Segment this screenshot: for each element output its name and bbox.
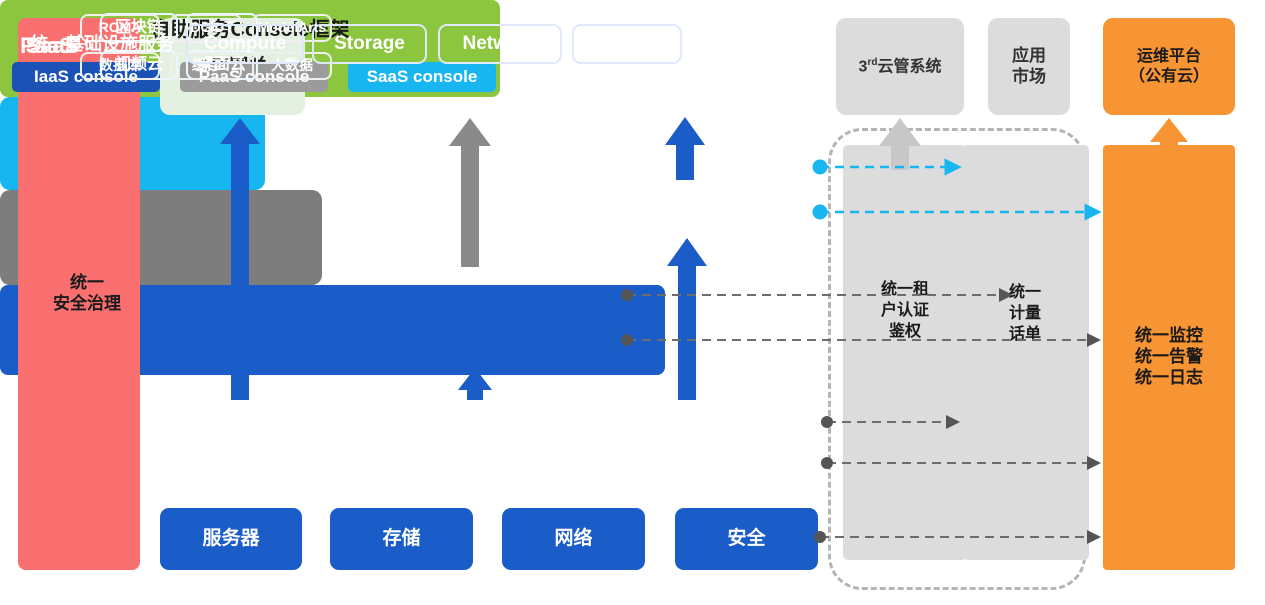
unified-metering-column <box>963 145 1089 560</box>
unified-security-governance-panel: 统一 安全治理 <box>18 18 140 570</box>
resource-box-security[interactable]: 安全 <box>675 508 818 570</box>
resource-box-storage[interactable]: 存储 <box>330 508 473 570</box>
ops-platform-line-1: 运维平台 <box>1129 47 1209 67</box>
app-market-line-2: 市场 <box>1012 67 1046 88</box>
auth-line-2: 户认证 <box>845 301 965 322</box>
unified-metering-label: 统一 计量 话单 <box>965 283 1085 345</box>
arrow-paas-to-console <box>449 118 491 267</box>
ops-platform-header-box: 运维平台 （公有云） <box>1103 18 1235 115</box>
ops-platform-line-2: （公有云） <box>1129 67 1209 87</box>
governance-label: 统一 安全治理 <box>37 273 121 314</box>
iaas-tile-network[interactable]: Network <box>438 24 562 64</box>
ops-platform-body-box: 统一监控 统一告警 统一日志 <box>1103 145 1235 570</box>
saas-console-label: SaaS console <box>367 68 478 87</box>
governance-line-1: 统一 <box>53 273 121 294</box>
third-party-cloud-management-box: 3rd云管系统 <box>836 18 964 115</box>
paas-tile-database[interactable]: 数据库 <box>80 52 160 80</box>
auth-line-3: 鉴权 <box>845 322 965 343</box>
arrow-saas-to-console <box>665 117 705 180</box>
third-party-superscript: rd <box>867 57 877 68</box>
saas-console-pill[interactable]: SaaS console <box>348 62 496 92</box>
third-party-label: 3rd云管系统 <box>859 57 942 77</box>
resource-label-1: 服务器 <box>202 527 259 550</box>
paas-tile-4-label: 数据库 <box>99 58 141 73</box>
resource-label-2: 存储 <box>382 527 420 550</box>
iaas-tile-2-label: Storage <box>334 34 405 55</box>
iaas-tile-compute[interactable]: Compute <box>186 24 304 64</box>
iaas-tile-4-label: CCE <box>607 34 647 55</box>
ops-body-line-2: 统一告警 <box>1135 347 1203 368</box>
resource-box-server[interactable]: 服务器 <box>160 508 302 570</box>
ops-platform-body-label: 统一监控 统一告警 统一日志 <box>1135 326 1203 388</box>
iaas-layer-label: 统一基础设施服务 <box>18 30 186 56</box>
unified-tenant-auth-column <box>843 145 967 560</box>
resource-label-4: 安全 <box>727 527 765 550</box>
app-market-label: 应用 市场 <box>1012 46 1046 87</box>
arrow-iaas-to-saas <box>667 238 707 400</box>
unified-tenant-auth-label: 统一租 户认证 鉴权 <box>845 280 965 342</box>
app-market-box: 应用 市场 <box>988 18 1070 115</box>
iaas-tile-cce[interactable]: CCE <box>572 24 682 64</box>
iaas-tile-1-label: Compute <box>204 34 286 55</box>
iaas-tile-storage[interactable]: Storage <box>312 24 427 64</box>
governance-line-2: 安全治理 <box>53 294 121 315</box>
ops-body-line-3: 统一日志 <box>1135 368 1203 389</box>
iaas-tile-3-label: Network <box>463 34 538 55</box>
resource-label-3: 网络 <box>554 527 592 550</box>
auth-line-1: 统一租 <box>845 280 965 301</box>
ops-body-line-1: 统一监控 <box>1135 326 1203 347</box>
metering-line-3: 话单 <box>965 325 1085 346</box>
metering-line-1: 统一 <box>965 283 1085 304</box>
app-market-line-1: 应用 <box>1012 46 1046 67</box>
resource-box-network[interactable]: 网络 <box>502 508 645 570</box>
metering-line-2: 计量 <box>965 304 1085 325</box>
architecture-diagram: 统一 安全治理 API网关 自助服务Console框架 IaaS console… <box>0 0 1265 605</box>
third-party-rest: 云管系统 <box>877 58 941 75</box>
ops-platform-header-label: 运维平台 （公有云） <box>1129 47 1209 86</box>
